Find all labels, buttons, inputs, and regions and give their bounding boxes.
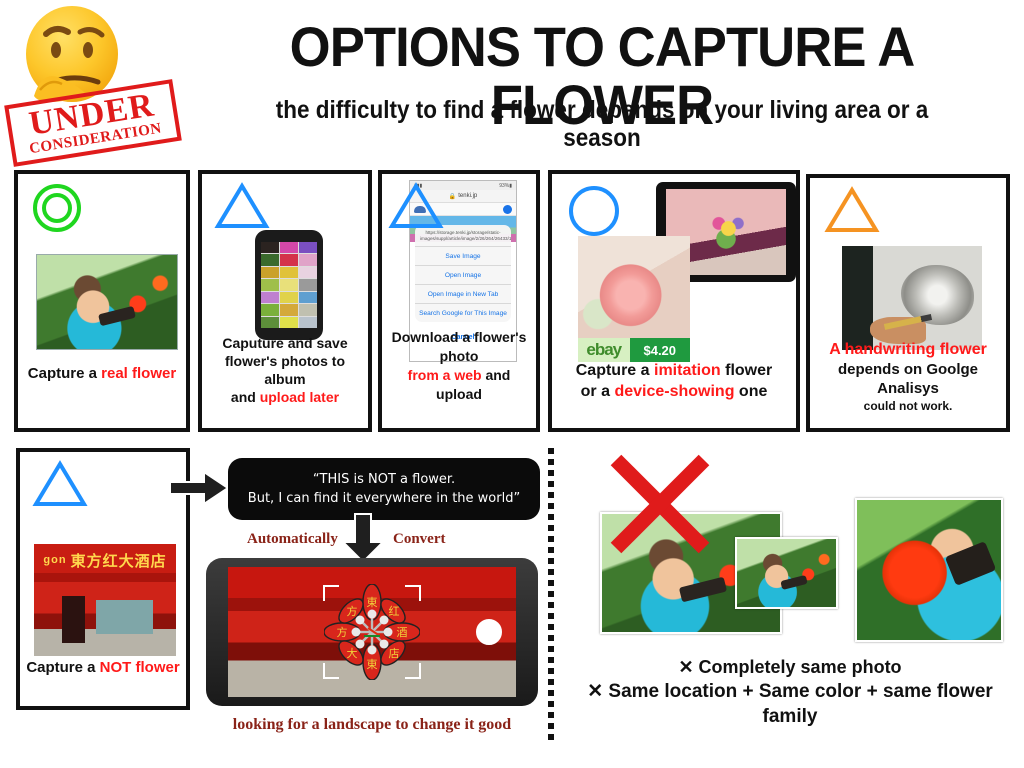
album-thumb-9[interactable] — [261, 279, 279, 290]
album-thumb-14[interactable] — [299, 292, 317, 303]
caption-text-part-2: real flower — [101, 365, 176, 382]
speech-bubble: “THIS is NOT a flower. But, I can find i… — [228, 458, 540, 520]
bubble-line-2: But, I can find it everywhere in the wor… — [248, 489, 520, 508]
caption-line-3-highlight: upload later — [260, 389, 339, 405]
caption-line-2: flower's photos to album — [206, 352, 364, 388]
svg-text:方: 方 — [337, 625, 348, 639]
caption-line-1: Caputure and save — [206, 334, 364, 352]
card-imitation-flower[interactable]: ebay $4.20 Capture a imitation flower or… — [548, 170, 800, 432]
card-handwriting-flower[interactable]: A handwriting flower depends on Goolge A… — [806, 174, 1010, 432]
caption-part-1: Capture a — [26, 659, 99, 676]
card-caption: Capture a real flower — [22, 365, 182, 382]
album-thumb-2[interactable] — [299, 242, 317, 253]
duplicates-notes: ✕ Completely same photo ✕ Same location … — [560, 655, 1020, 729]
card-caption: Capture a NOT flower — [24, 659, 182, 676]
green-circle-icon — [30, 182, 84, 234]
card-caption: Caputure and save flower's photos to alb… — [206, 334, 364, 406]
photo-phone-object — [945, 541, 997, 586]
album-thumb-13[interactable] — [280, 292, 298, 303]
blue-triangle-icon — [32, 460, 88, 508]
duplicate-photo-closeup — [855, 498, 1003, 642]
duplicates-note-line-2: ✕ Same location + Same color + same flow… — [560, 679, 1020, 729]
caption-text-part-1: Capture a — [28, 365, 101, 382]
phone-landscape-camera-mockup[interactable]: 東東 方酒 方红 大店 — [206, 558, 538, 706]
caption-line-3-prefix: and — [231, 389, 260, 405]
caption-line-1: Download a flower's photo — [386, 328, 532, 366]
landscape-caption: looking for a landscape to change it goo… — [206, 716, 538, 734]
caption-line-1: A handwriting flower — [814, 340, 1002, 360]
card-caption: Capture a imitation flower or a device-s… — [556, 360, 792, 402]
duplicate-photo-small — [735, 537, 838, 609]
ebay-logo: ebay — [578, 338, 630, 362]
page-subtitle: the difficulty to find a flower depends … — [237, 96, 968, 152]
svg-text:红: 红 — [389, 605, 400, 618]
album-thumb-12[interactable] — [261, 292, 279, 303]
caption-line-3: could not work. — [814, 398, 1002, 414]
infographic-page: UNDER CONSIDERATION OPTIONS TO CAPTURE A… — [0, 0, 1024, 768]
caption-l1-b: flower — [721, 362, 773, 379]
album-thumb-20[interactable] — [299, 317, 317, 328]
camera-viewfinder: 東東 方酒 方红 大店 — [228, 567, 516, 697]
camera-shutter-button[interactable] — [476, 619, 502, 645]
album-thumb-11[interactable] — [299, 279, 317, 290]
album-thumb-7[interactable] — [280, 267, 298, 278]
caption-l1-highlight: imitation — [654, 362, 721, 379]
blue-circle-icon — [566, 184, 622, 238]
svg-text:酒: 酒 — [397, 626, 408, 639]
card-download-from-web[interactable]: ▮▮▮93%▮ 🔒 tenki.jp https://storage.tenki… — [378, 170, 540, 432]
down-arrow-icon — [341, 512, 385, 564]
caption-part-2: NOT flower — [100, 659, 180, 676]
caption-l2-b: one — [734, 383, 767, 400]
sketch-bloom — [901, 265, 974, 325]
duplicates-note-line-1: ✕ Completely same photo — [560, 655, 1020, 679]
big-red-x-icon — [608, 452, 712, 556]
svg-text:大: 大 — [347, 646, 358, 660]
detected-flower-overlay-icon: 東東 方酒 方红 大店 — [324, 584, 420, 680]
caption-line-2-highlight: from a web — [408, 367, 482, 383]
caption-line-2: depends on Goolge Analisys — [814, 360, 1002, 398]
action-search-google[interactable]: Search Google for This Image — [415, 303, 511, 322]
album-thumb-0[interactable] — [261, 242, 279, 253]
album-thumb-15[interactable] — [261, 304, 279, 315]
album-thumb-19[interactable] — [280, 317, 298, 328]
bubble-line-1: “THIS is NOT a flower. — [313, 470, 455, 489]
album-thumb-10[interactable] — [280, 279, 298, 290]
caption-l2-a: or a — [581, 383, 615, 400]
album-thumbnail-grid — [261, 242, 317, 328]
header: UNDER CONSIDERATION OPTIONS TO CAPTURE A… — [0, 0, 1024, 160]
action-save-image[interactable]: Save Image — [415, 246, 511, 265]
browser-url-text: tenki.jp — [458, 193, 477, 199]
photo-pencil-sketch-flower — [842, 246, 982, 350]
orange-triangle-icon — [824, 186, 880, 234]
album-thumb-6[interactable] — [261, 267, 279, 278]
album-thumb-5[interactable] — [299, 254, 317, 265]
blue-triangle-icon — [214, 182, 270, 230]
caption-l1-a: Capture a — [576, 362, 654, 379]
album-thumb-8[interactable] — [299, 267, 317, 278]
album-thumb-4[interactable] — [280, 254, 298, 265]
card-caption: Download a flower's photo from a web and… — [386, 328, 532, 404]
ebay-price-badge: ebay $4.20 — [578, 338, 690, 362]
label-automatically: Automatically — [247, 531, 338, 548]
sign-prefix: gon — [43, 554, 66, 566]
blue-triangle-icon — [388, 182, 444, 230]
sign-chinese: 東方红大酒店 — [71, 550, 167, 571]
svg-text:方: 方 — [347, 604, 358, 618]
restaurant-sign-text: gon 東方红大酒店 — [40, 551, 171, 570]
battery-label: 93%▮ — [499, 183, 512, 189]
album-thumb-17[interactable] — [299, 304, 317, 315]
action-open-image-new-tab[interactable]: Open Image in New Tab — [415, 284, 511, 303]
restaurant-door — [62, 596, 85, 643]
card-save-to-album[interactable]: Caputure and save flower's photos to alb… — [198, 170, 372, 432]
label-convert: Convert — [393, 531, 446, 548]
lock-icon: 🔒 — [449, 193, 456, 200]
album-thumb-16[interactable] — [280, 304, 298, 315]
photo-imitation-rose-corsage: ebay $4.20 — [578, 236, 690, 362]
svg-text:東: 東 — [367, 596, 378, 609]
album-thumb-18[interactable] — [261, 317, 279, 328]
svg-text:東: 東 — [367, 658, 378, 671]
phone-album-mockup — [255, 230, 323, 340]
ios-action-sheet[interactable]: https://storage.tenki.jp/storage/static-… — [415, 225, 511, 322]
album-thumb-3[interactable] — [261, 254, 279, 265]
photo-chinese-restaurant: gon 東方红大酒店 — [34, 544, 176, 656]
ebay-price: $4.20 — [630, 338, 690, 362]
card-not-flower[interactable]: gon 東方红大酒店 Capture a NOT flower — [16, 448, 190, 710]
album-thumb-1[interactable] — [280, 242, 298, 253]
caption-l2-highlight: device-showing — [614, 383, 734, 400]
photo-phone-object — [98, 305, 136, 326]
svg-text:店: 店 — [389, 646, 400, 660]
vertical-dashed-divider — [548, 448, 554, 744]
right-arrow-icon — [168, 468, 232, 508]
card-caption: A handwriting flower depends on Goolge A… — [814, 340, 1002, 414]
photo-girl-capturing-flower — [36, 254, 178, 350]
restaurant-window — [96, 600, 153, 634]
photo-phone-object — [679, 577, 728, 603]
google-badge-icon — [503, 205, 512, 214]
photo-phone-object — [780, 575, 807, 590]
card-real-flower[interactable]: Capture a real flower — [14, 170, 190, 432]
action-open-image[interactable]: Open Image — [415, 265, 511, 284]
